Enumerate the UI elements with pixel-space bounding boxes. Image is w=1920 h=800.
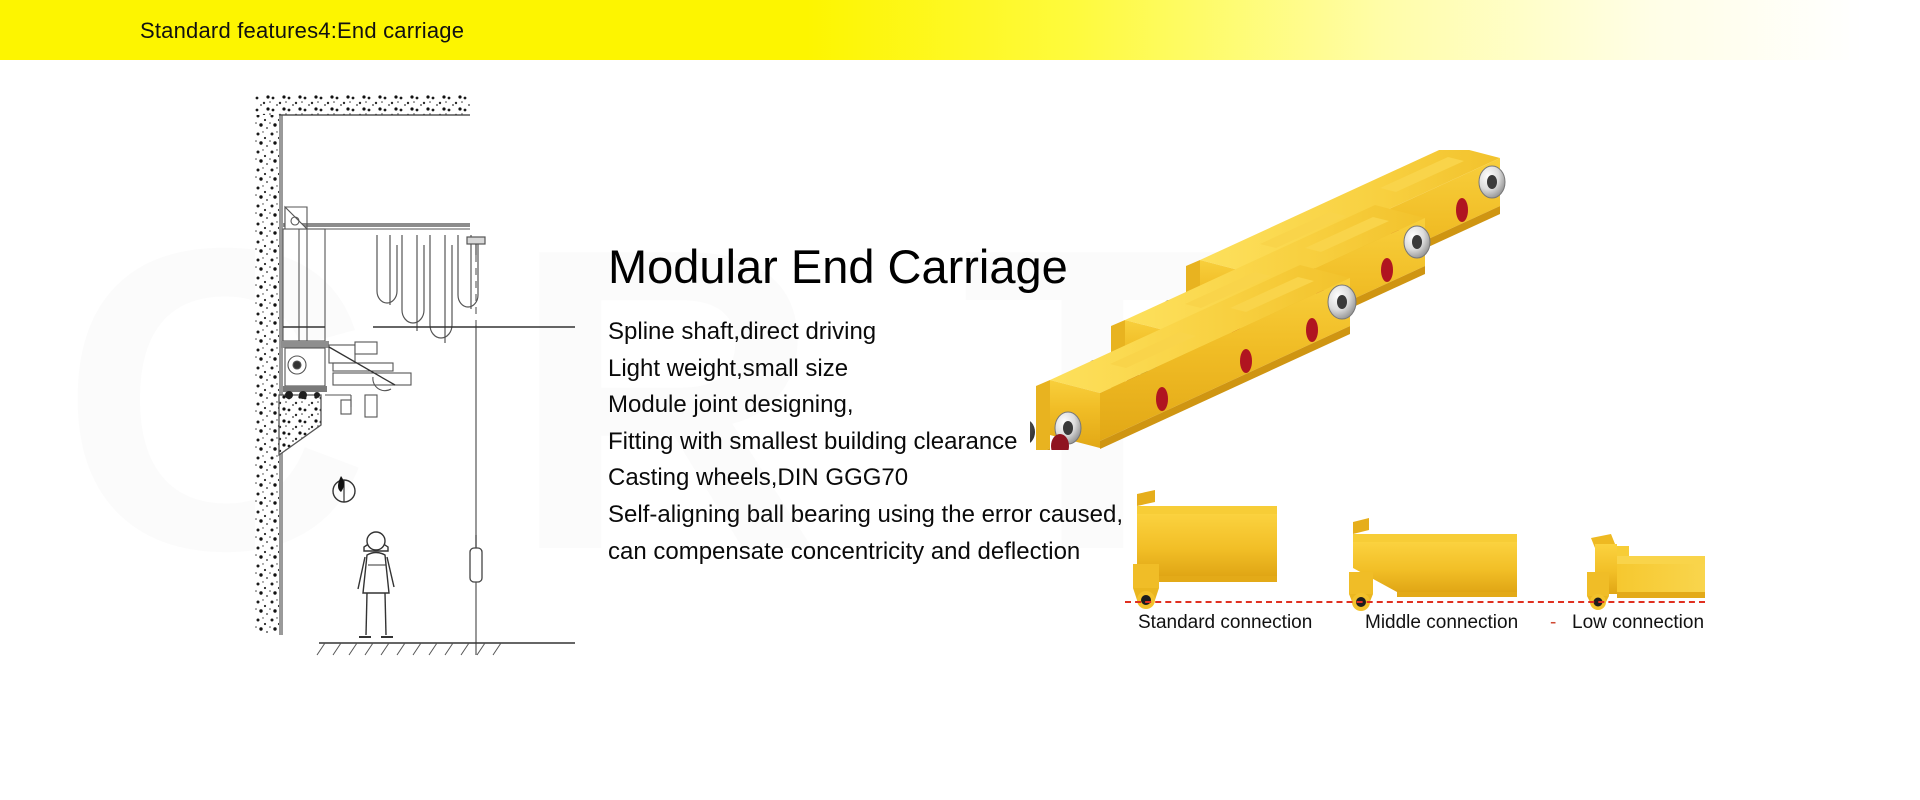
roof-slab bbox=[255, 95, 470, 115]
connection-profile-standard bbox=[1133, 490, 1277, 609]
end-carriage-3d-svg bbox=[1030, 150, 1650, 450]
header-banner: Standard features4:End carriage bbox=[0, 0, 1920, 60]
feature-item-6: can compensate concentricity and deflect… bbox=[608, 534, 1168, 571]
connection-label-middle: Middle connection bbox=[1365, 612, 1518, 634]
hoist-hook bbox=[333, 476, 355, 502]
crane-girder bbox=[283, 223, 470, 229]
connection-profile-low bbox=[1587, 534, 1705, 610]
connection-label-standard: Standard connection bbox=[1138, 612, 1312, 634]
trolley-and-rope bbox=[467, 237, 485, 655]
operator-figure bbox=[358, 532, 394, 637]
connection-captions: Standard connection Middle connection - … bbox=[1125, 612, 1725, 642]
feature-item-5: Self-aligning ball bearing using the err… bbox=[608, 497, 1168, 534]
connection-diagrams bbox=[1125, 488, 1705, 618]
load-block bbox=[470, 535, 482, 582]
end-carriage-3d-render bbox=[1030, 150, 1650, 450]
end-truck bbox=[281, 207, 329, 399]
connection-diagrams-svg bbox=[1125, 488, 1705, 618]
drive-unit bbox=[325, 342, 411, 417]
cad-drawing bbox=[255, 95, 575, 670]
connection-baseline bbox=[1125, 601, 1705, 603]
feature-item-4: Casting wheels,DIN GGG70 bbox=[608, 460, 1168, 497]
wall-corbel bbox=[279, 395, 321, 455]
connection-label-low: Low connection bbox=[1572, 612, 1704, 634]
caption-separator-dash: - bbox=[1550, 612, 1556, 634]
page-title: Standard features4:End carriage bbox=[140, 18, 464, 44]
connection-profile-middle bbox=[1349, 518, 1517, 611]
cad-drawing-svg bbox=[255, 95, 575, 670]
concrete-wall bbox=[255, 95, 283, 635]
ground-line bbox=[317, 643, 575, 655]
